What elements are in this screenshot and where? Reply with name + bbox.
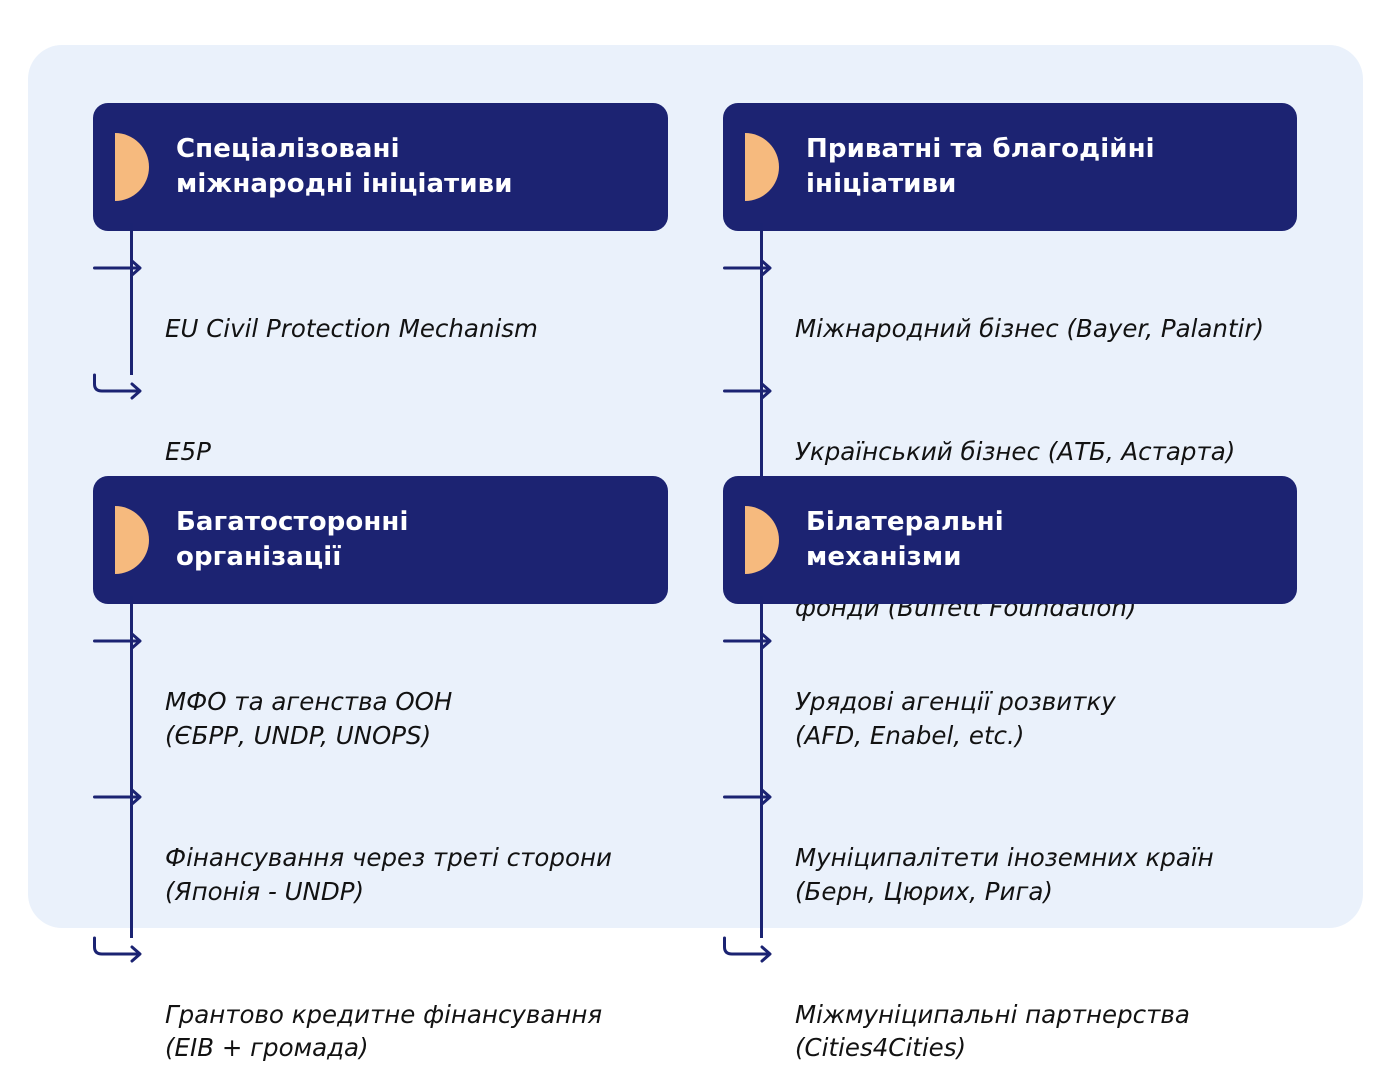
list-item-label: Український бізнес (АТБ, Астарта) <box>795 437 1235 466</box>
list-item[interactable]: EU Civil Protection Mechanism <box>165 245 668 346</box>
list-item-label: Фінансування через треті сторони (Японія… <box>165 843 612 906</box>
arrow-connector-icon <box>93 379 155 395</box>
half-circle-icon <box>745 506 779 574</box>
card-header[interactable]: Багатосторонні організації <box>93 476 668 604</box>
list-item-label: Міжмуніципальні партнерства (Cities4Citi… <box>795 1000 1190 1063</box>
card-title: Багатосторонні організації <box>176 505 408 575</box>
list-item-label: Урядові агенції розвитку (AFD, Enabel, e… <box>795 687 1116 750</box>
card-header[interactable]: Спеціалізовані міжнародні ініціативи <box>93 103 668 231</box>
list-item[interactable]: Фінансування через треті сторони (Японія… <box>165 774 668 908</box>
list-item-label: Міжнародний бізнес (Bayer, Palantir) <box>795 314 1264 343</box>
list-item-label: E5P <box>165 437 211 466</box>
list-item[interactable]: Урядові агенції розвитку (AFD, Enabel, e… <box>795 618 1297 752</box>
list-item[interactable]: Грантово кредитне фінансування (EIB + гр… <box>165 931 668 1065</box>
half-circle-icon <box>115 506 149 574</box>
list-item[interactable]: Муніципалітети іноземних країн (Берн, Цю… <box>795 774 1297 908</box>
card-title: Приватні та благодійні ініціативи <box>806 132 1155 202</box>
card-title: Білатеральні механізми <box>806 505 1004 575</box>
item-list: Урядові агенції розвитку (AFD, Enabel, e… <box>723 604 1297 1065</box>
arrow-connector-icon <box>93 629 155 645</box>
arrow-connector-icon <box>93 785 155 801</box>
list-item-label: Муніципалітети іноземних країн (Берн, Цю… <box>795 843 1214 906</box>
list-item-label: EU Civil Protection Mechanism <box>165 314 538 343</box>
connector-stem <box>130 223 133 375</box>
quadrant-multilateral-organizations: Багатосторонні організації МФО та агенст… <box>93 476 668 1065</box>
card-title: Спеціалізовані міжнародні ініціативи <box>176 132 513 202</box>
list-item[interactable]: МФО та агенства ООН (ЄБРР, UNDP, UNOPS) <box>165 618 668 752</box>
card-header[interactable]: Білатеральні механізми <box>723 476 1297 604</box>
list-item-label: МФО та агенства ООН (ЄБРР, UNDP, UNOPS) <box>165 687 452 750</box>
arrow-connector-icon <box>93 256 155 272</box>
quadrant-bilateral-mechanisms: Білатеральні механізми Урядові агенції р… <box>723 476 1297 1065</box>
list-item[interactable]: E5P <box>165 368 668 469</box>
arrow-connector-icon <box>723 256 785 272</box>
list-item[interactable]: Міжмуніципальні партнерства (Cities4Citi… <box>795 931 1297 1065</box>
item-list: EU Civil Protection Mechanism E5P <box>93 231 668 468</box>
diagram-root: Спеціалізовані міжнародні ініціативи EU … <box>0 0 1397 947</box>
arrow-connector-icon <box>723 942 785 958</box>
item-list: МФО та агенства ООН (ЄБРР, UNDP, UNOPS) … <box>93 604 668 1065</box>
half-circle-icon <box>745 133 779 201</box>
arrow-connector-icon <box>723 379 785 395</box>
quadrant-specialized-international-initiatives: Спеціалізовані міжнародні ініціативи EU … <box>93 103 668 468</box>
arrow-connector-icon <box>93 942 155 958</box>
list-item[interactable]: Міжнародний бізнес (Bayer, Palantir) <box>795 245 1297 346</box>
half-circle-icon <box>115 133 149 201</box>
arrow-connector-icon <box>723 629 785 645</box>
list-item-label: Грантово кредитне фінансування (EIB + гр… <box>165 1000 602 1063</box>
list-item[interactable]: Український бізнес (АТБ, Астарта) <box>795 368 1297 469</box>
card-header[interactable]: Приватні та благодійні ініціативи <box>723 103 1297 231</box>
arrow-connector-icon <box>723 785 785 801</box>
